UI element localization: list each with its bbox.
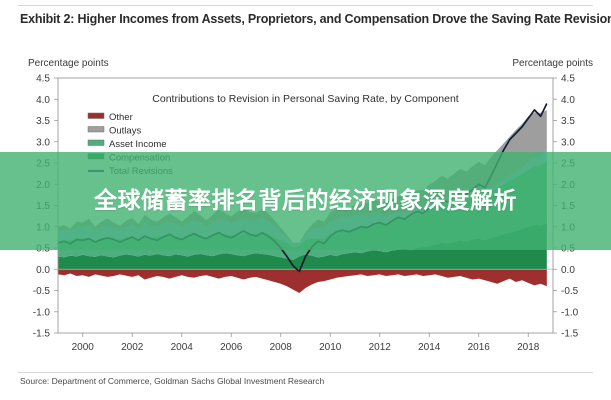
source-divider <box>18 372 593 373</box>
y-tick-label-left: -0.5 <box>33 286 51 297</box>
right-axis-unit-label: Percentage points <box>512 58 593 69</box>
screenshot-root: Exhibit 2: Higher Incomes from Assets, P… <box>0 0 611 400</box>
legend-swatch <box>88 127 104 133</box>
y-tick-label-right: 4.5 <box>561 74 575 85</box>
x-tick-label: 2008 <box>270 342 293 353</box>
y-tick-label-right: -0.5 <box>561 286 579 297</box>
y-tick-label-left: 4.5 <box>36 74 50 85</box>
y-tick-label-left: 4.0 <box>36 95 50 106</box>
y-tick-label-right: -1.5 <box>561 329 579 340</box>
legend-swatch <box>88 140 104 146</box>
top-divider <box>18 5 593 6</box>
y-tick-label-left: -1.0 <box>33 307 51 318</box>
plot-title: Contributions to Revision in Personal Sa… <box>152 93 459 105</box>
legend-label: Outlays <box>109 126 141 137</box>
x-tick-label: 2002 <box>121 342 144 353</box>
y-tick-label-right: 0.0 <box>561 265 575 276</box>
x-tick-label: 2016 <box>468 342 491 353</box>
legend-label: Asset Income <box>109 139 167 150</box>
source-note: Source: Department of Commerce, Goldman … <box>20 376 324 386</box>
x-tick-label: 2000 <box>72 342 95 353</box>
y-tick-label-left: 0.0 <box>36 265 50 276</box>
y-tick-label-left: 3.5 <box>36 116 50 127</box>
y-tick-label-left: -1.5 <box>33 329 51 340</box>
y-tick-label-left: 3.0 <box>36 137 50 148</box>
x-tick-label: 2010 <box>319 342 342 353</box>
left-axis-unit-label: Percentage points <box>28 58 109 69</box>
x-tick-label: 2012 <box>369 342 392 353</box>
y-tick-label-right: -1.0 <box>561 307 579 318</box>
x-tick-label: 2006 <box>220 342 243 353</box>
x-tick-label: 2004 <box>171 342 194 353</box>
y-tick-label-right: 3.5 <box>561 116 575 127</box>
x-tick-label: 2018 <box>517 342 540 353</box>
y-tick-label-right: 3.0 <box>561 137 575 148</box>
exhibit-title: Exhibit 2: Higher Incomes from Assets, P… <box>20 12 595 26</box>
legend-swatch <box>88 113 104 119</box>
x-tick-label: 2014 <box>418 342 441 353</box>
y-tick-label-right: 4.0 <box>561 95 575 106</box>
overlay-headline: 全球储蓄率排名背后的经济现象深度解析 <box>0 152 611 250</box>
legend-label: Other <box>109 112 133 123</box>
